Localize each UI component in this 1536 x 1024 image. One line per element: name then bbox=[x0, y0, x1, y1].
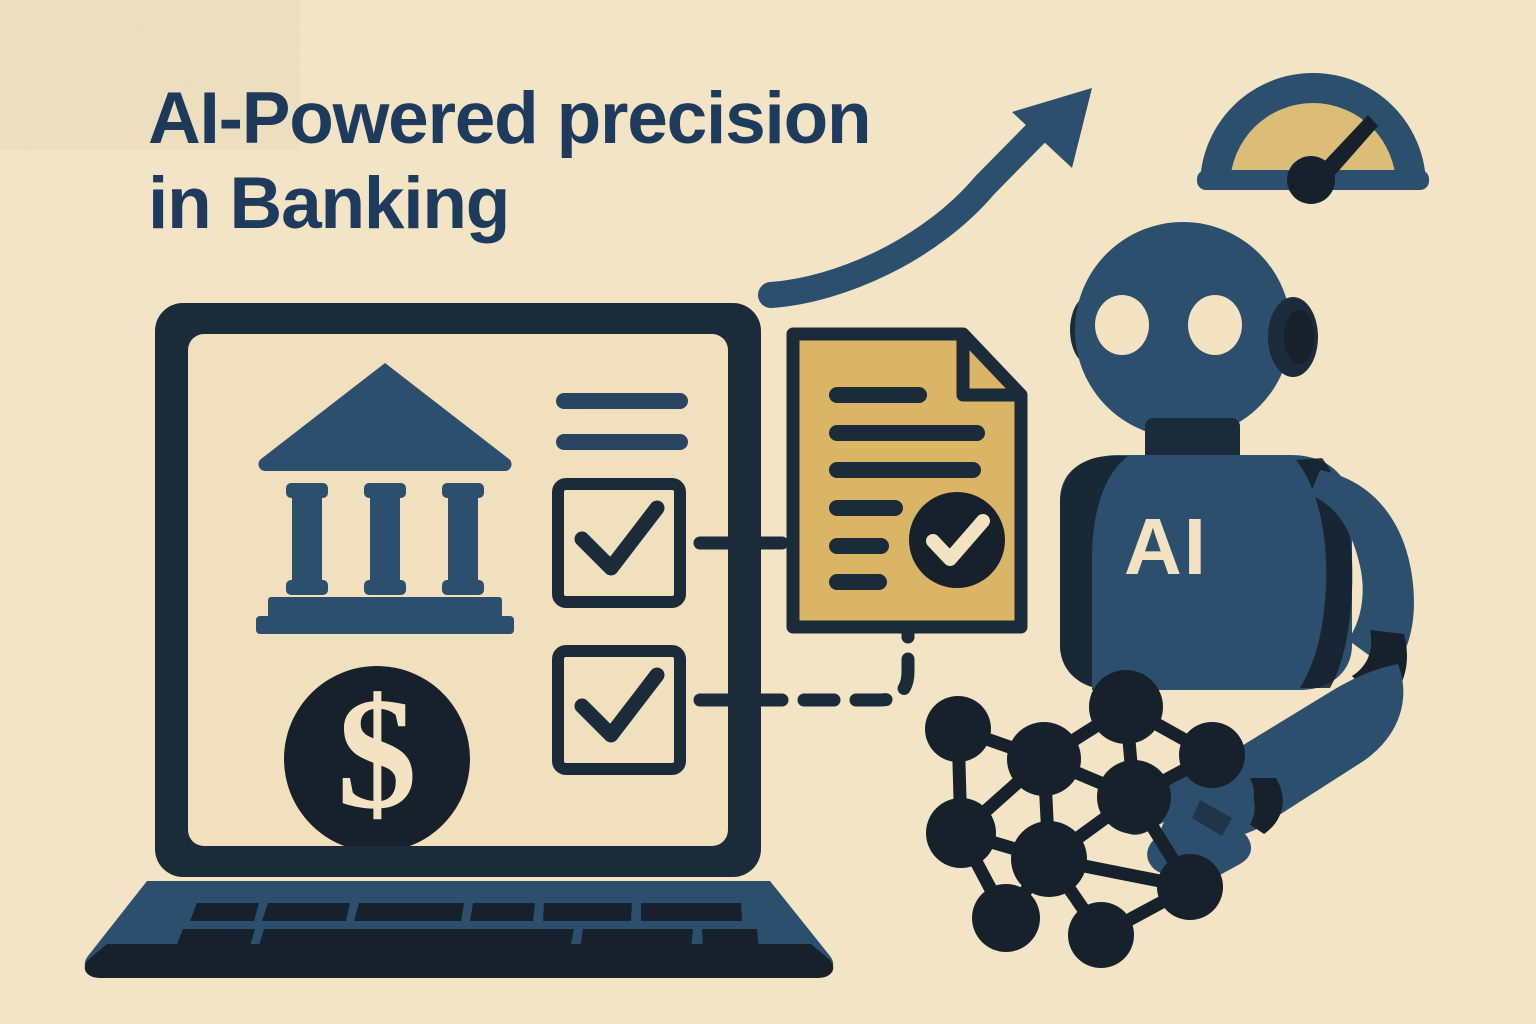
network-node bbox=[925, 696, 991, 762]
network-node bbox=[1011, 821, 1087, 897]
page-title: AI-Powered precision in Banking bbox=[148, 76, 1028, 246]
network-node bbox=[1179, 722, 1245, 788]
network-node bbox=[926, 798, 996, 868]
robot-chest-label: AI bbox=[1124, 507, 1244, 587]
network-node bbox=[1007, 722, 1081, 796]
doc-line-5 bbox=[829, 538, 889, 554]
title-line-1: AI-Powered precision bbox=[148, 76, 1028, 161]
text-bar-1 bbox=[556, 393, 688, 409]
doc-line-6 bbox=[829, 574, 887, 590]
doc-line-1 bbox=[829, 387, 927, 403]
text-bar-2 bbox=[556, 434, 688, 450]
laptop-front-edge bbox=[85, 944, 833, 978]
network-node bbox=[1068, 902, 1134, 968]
network-node bbox=[1097, 760, 1171, 834]
doc-line-3 bbox=[829, 462, 981, 478]
check-circle-icon bbox=[909, 492, 1005, 588]
verified-document bbox=[793, 334, 1021, 627]
robot-right-eye bbox=[1188, 295, 1242, 355]
network-node bbox=[1157, 854, 1223, 920]
dollar-symbol: $ bbox=[337, 664, 417, 842]
illustration-canvas: $ AI-Powered p bbox=[0, 0, 1536, 1024]
network-node bbox=[972, 884, 1040, 952]
laptop bbox=[85, 303, 833, 978]
precision-gauge bbox=[1197, 73, 1429, 204]
robot-ear-right bbox=[1268, 297, 1318, 377]
network-node bbox=[1089, 670, 1163, 744]
doc-line-2 bbox=[829, 425, 985, 441]
robot-left-eye bbox=[1095, 295, 1149, 355]
title-line-2: in Banking bbox=[148, 161, 1028, 246]
doc-line-4 bbox=[829, 500, 903, 516]
gauge-hub bbox=[1287, 156, 1335, 204]
